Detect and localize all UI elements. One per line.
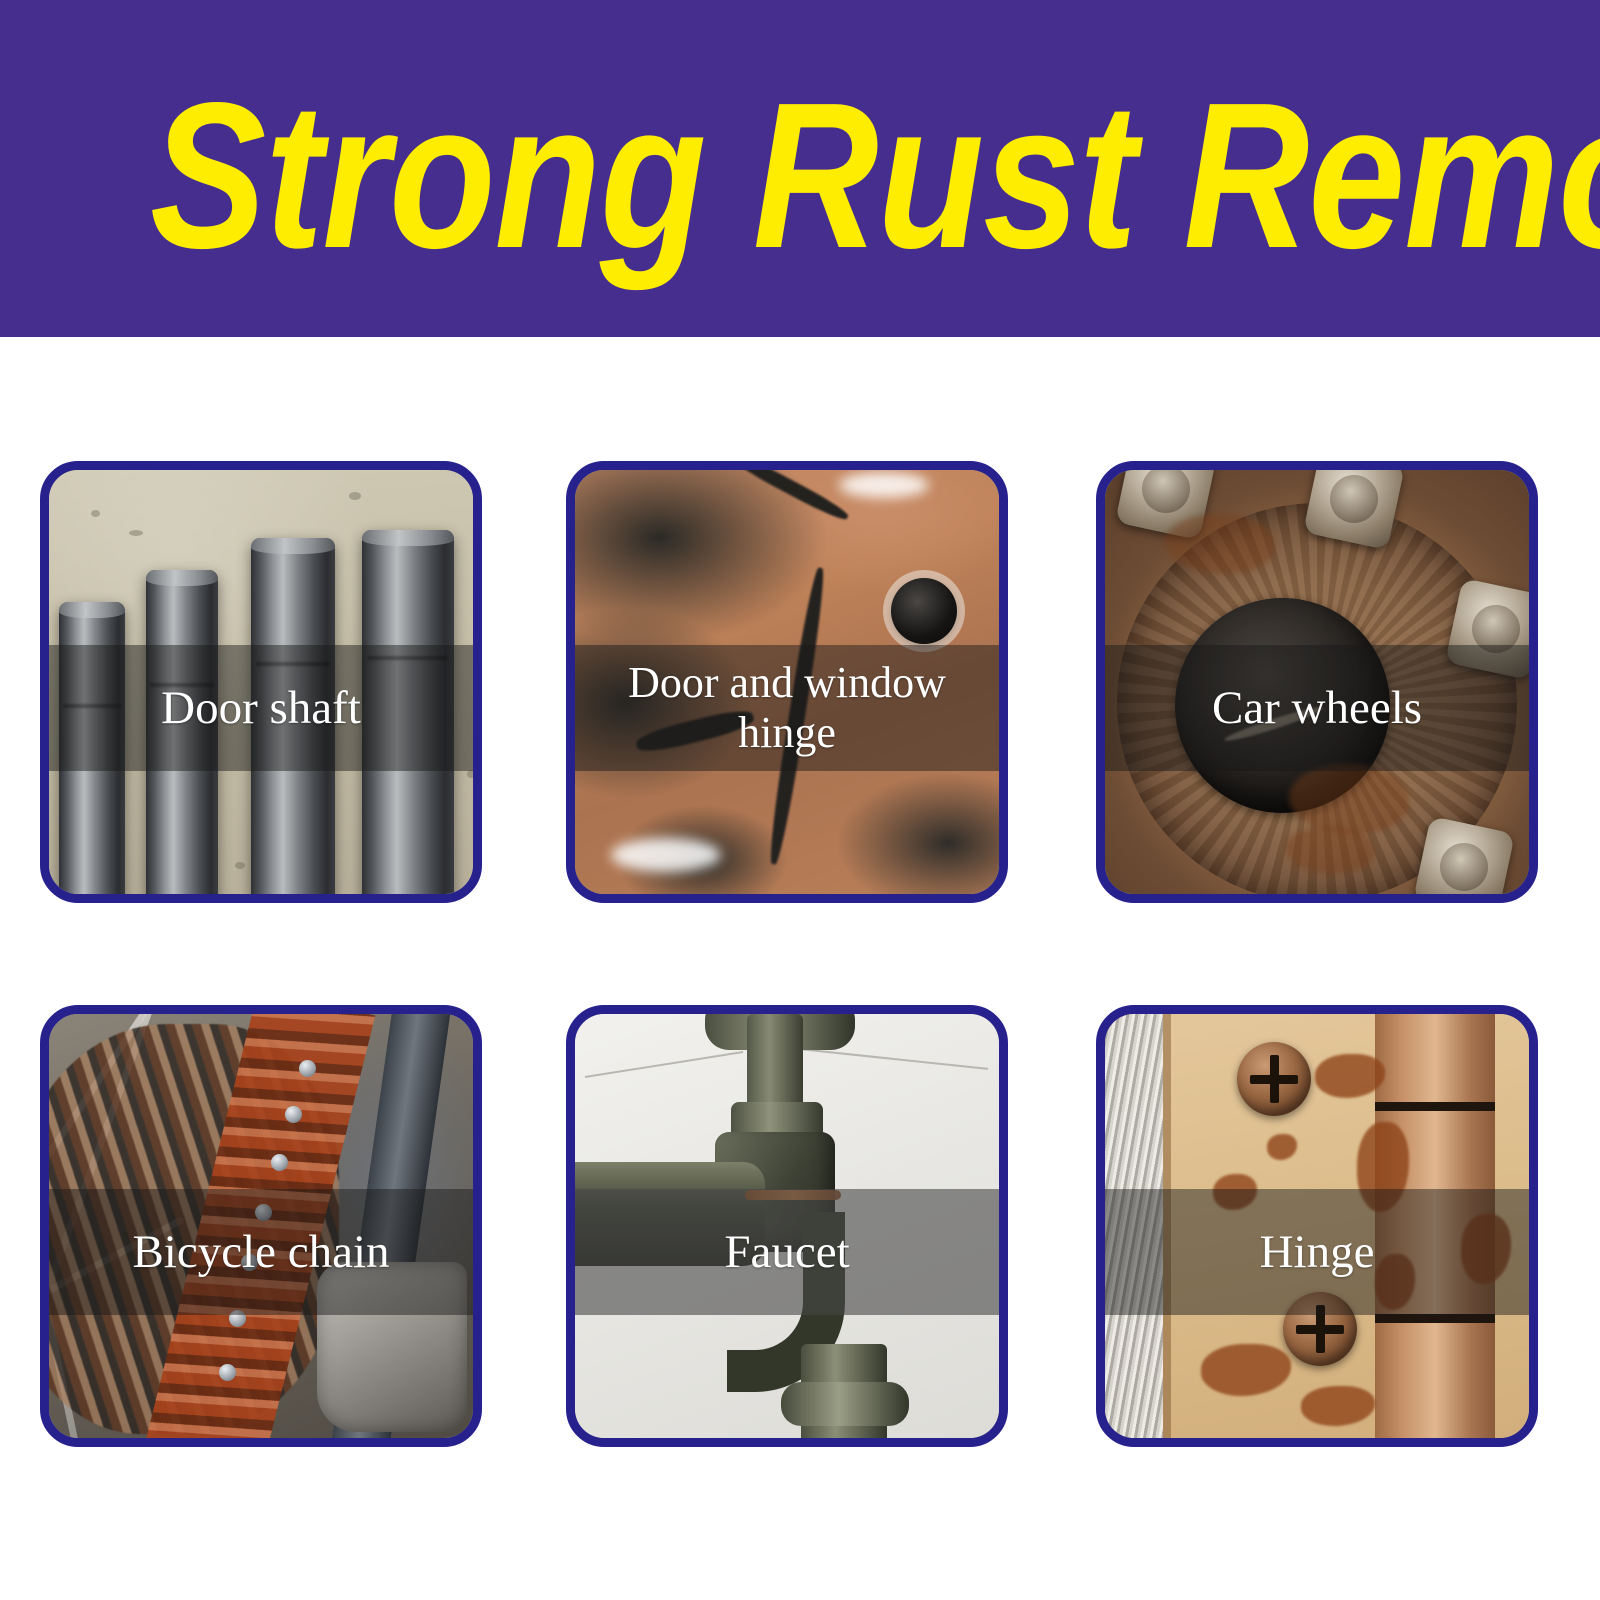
card-label-text: Door and window hinge	[575, 658, 999, 758]
card-label-text: Bicycle chain	[118, 1225, 403, 1279]
card-label-text: Car wheels	[1198, 681, 1436, 735]
card-label-band: Car wheels	[1105, 645, 1529, 771]
card-label-band: Hinge	[1105, 1189, 1529, 1315]
card-label-band: Faucet	[575, 1189, 999, 1315]
header-banner: Strong Rust Removal	[0, 0, 1600, 337]
phillips-screw-icon	[1237, 1042, 1311, 1116]
card-label-text: Door shaft	[147, 681, 375, 735]
bolt-hole	[891, 578, 957, 644]
use-case-card-hinge[interactable]: Hinge	[1096, 1005, 1538, 1447]
use-case-card-door-and-window-hinge[interactable]: Door and window hinge	[566, 461, 1008, 903]
card-label-band: Door and window hinge	[575, 645, 999, 771]
use-case-card-faucet[interactable]: Faucet	[566, 1005, 1008, 1447]
card-label-text: Hinge	[1246, 1225, 1389, 1279]
use-case-card-door-shaft[interactable]: Door shaft	[40, 461, 482, 903]
card-label-band: Bicycle chain	[49, 1189, 473, 1315]
use-case-card-bicycle-chain[interactable]: Bicycle chain	[40, 1005, 482, 1447]
use-case-card-car-wheels[interactable]: Car wheels	[1096, 461, 1538, 903]
product-use-case-grid: Door shaft Door and window hinge	[0, 337, 1600, 1600]
page-title: Strong Rust Removal	[150, 50, 1437, 304]
card-label-band: Door shaft	[49, 645, 473, 771]
card-label-text: Faucet	[710, 1225, 863, 1279]
